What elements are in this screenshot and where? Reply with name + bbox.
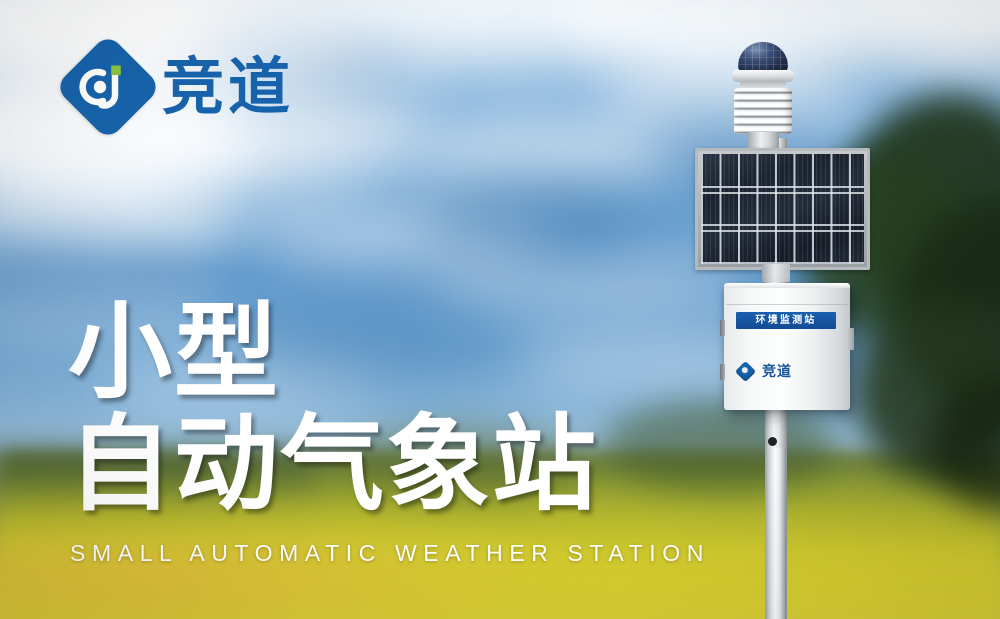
solar-busbar	[701, 192, 864, 194]
solar-panel-icon	[695, 148, 870, 270]
solar-panel-cells	[701, 154, 864, 264]
field-highlight	[0, 520, 580, 619]
light-wash	[0, 0, 460, 260]
enclosure-hinge	[720, 364, 725, 380]
brand-name: 竞道	[162, 50, 294, 124]
enclosure-hinge	[720, 320, 725, 336]
solar-panel-mount	[762, 264, 790, 282]
enclosure-latch	[846, 328, 854, 350]
product-banner: 竞道 小型 自动气象站 SMALL AUTOMATIC WEATHER STAT…	[0, 0, 1000, 619]
weather-sensor-dome-grid	[738, 42, 788, 72]
brand-logo[interactable]: 竞道	[68, 46, 328, 130]
headline-block: 小型 自动气象站	[68, 296, 688, 520]
enclosure-lid-seam	[726, 304, 848, 305]
enclosure-logo-text: 竞道	[762, 361, 792, 381]
logo-glyph-icon	[70, 49, 146, 125]
radiation-shield-icon	[734, 88, 792, 134]
headline-subtitle: SMALL AUTOMATIC WEATHER STATION	[70, 540, 710, 567]
enclosure-top-edge	[724, 283, 850, 288]
enclosure-banner: 环境监测站	[736, 312, 836, 329]
enclosure-logo-diamond-icon	[735, 360, 756, 381]
weather-station-device: 环境监测站 竞道	[690, 28, 880, 619]
enclosure-brand-logo: 竞道	[738, 360, 822, 382]
weather-sensor-rim	[732, 70, 794, 82]
headline-line-2: 自动气象站	[68, 408, 688, 520]
pole-bolt	[768, 437, 777, 446]
headline-line-1: 小型	[68, 296, 688, 408]
mounting-pole-lower	[766, 448, 786, 619]
enclosure-banner-text: 环境监测站	[756, 316, 817, 326]
solar-busbar	[701, 230, 864, 232]
